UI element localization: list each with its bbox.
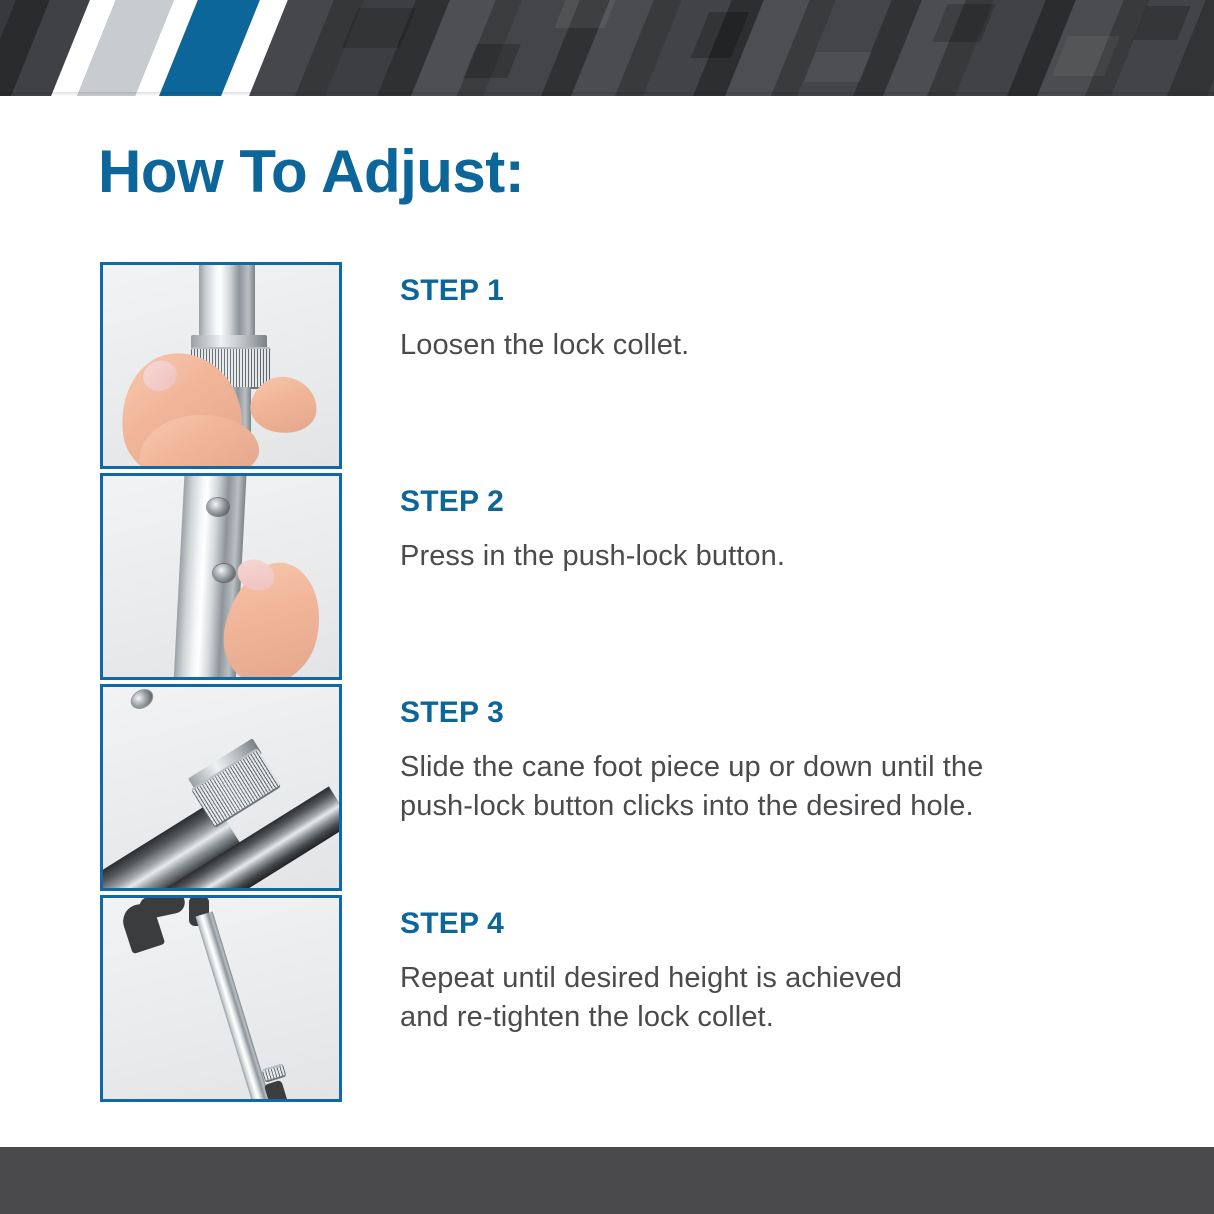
step-4-body: Repeat until desired height is achieved … bbox=[400, 959, 1214, 1036]
step-2-body-line-1: Press in the push-lock button. bbox=[400, 537, 1214, 576]
step-3-body: Slide the cane foot piece up or down unt… bbox=[400, 748, 1214, 825]
instruction-card: How To Adjust: bbox=[0, 0, 1214, 1214]
step-1-body: Loosen the lock collet. bbox=[400, 326, 1214, 365]
step-row-4: STEP 4 Repeat until desired height is ac… bbox=[0, 895, 1214, 1106]
footer-bar bbox=[0, 1147, 1214, 1214]
step-3-photo-frame bbox=[100, 684, 342, 891]
step-3-heading: STEP 3 bbox=[400, 698, 1214, 728]
lock-collet bbox=[261, 1063, 286, 1083]
step-2-body: Press in the push-lock button. bbox=[400, 537, 1214, 576]
finger-pressing-push-lock-button-photo bbox=[103, 476, 339, 677]
push-lock-hole-upper bbox=[207, 498, 229, 516]
step-1-body-line-1: Loosen the lock collet. bbox=[400, 326, 1214, 365]
push-lock-button bbox=[213, 564, 235, 582]
step-row-3: STEP 3 Slide the cane foot piece up or d… bbox=[0, 684, 1214, 895]
step-4-body-line-2: and re-tighten the lock collet. bbox=[400, 998, 1214, 1037]
hand-gripping-lock-collet-photo bbox=[103, 265, 339, 466]
step-1-heading: STEP 1 bbox=[400, 276, 1214, 306]
steps-list: STEP 1 Loosen the lock collet. STEP 2 bbox=[0, 262, 1214, 1106]
step-4-body-line-1: Repeat until desired height is achieved bbox=[400, 959, 1214, 998]
banner-bottom-shadow bbox=[0, 92, 1214, 96]
step-3-body-line-1: Slide the cane foot piece up or down unt… bbox=[400, 748, 1214, 787]
step-2-text: STEP 2 Press in the push-lock button. bbox=[400, 473, 1214, 576]
step-1-photo-frame bbox=[100, 262, 342, 469]
step-4-photo-frame bbox=[100, 895, 342, 1102]
diagonal-stripe-banner bbox=[0, 0, 1214, 96]
cane-main-shaft bbox=[195, 911, 271, 1102]
page-title: How To Adjust: bbox=[98, 142, 524, 202]
cane-shaft-with-collet-diagonal-photo bbox=[103, 687, 339, 888]
step-4-heading: STEP 4 bbox=[400, 909, 1214, 939]
step-4-text: STEP 4 Repeat until desired height is ac… bbox=[400, 895, 1214, 1036]
step-row-1: STEP 1 Loosen the lock collet. bbox=[0, 262, 1214, 473]
step-2-photo-frame bbox=[100, 473, 342, 680]
cane-handle-crook bbox=[137, 895, 187, 921]
push-lock-hole bbox=[128, 686, 155, 711]
step-1-text: STEP 1 Loosen the lock collet. bbox=[400, 262, 1214, 365]
step-2-heading: STEP 2 bbox=[400, 487, 1214, 517]
step-row-2: STEP 2 Press in the push-lock button. bbox=[0, 473, 1214, 684]
full-cane-with-handle-photo bbox=[103, 898, 339, 1099]
step-3-body-line-2: push-lock button clicks into the desired… bbox=[400, 787, 1214, 826]
step-3-text: STEP 3 Slide the cane foot piece up or d… bbox=[400, 684, 1214, 825]
cane-foot-tip bbox=[264, 1080, 288, 1102]
